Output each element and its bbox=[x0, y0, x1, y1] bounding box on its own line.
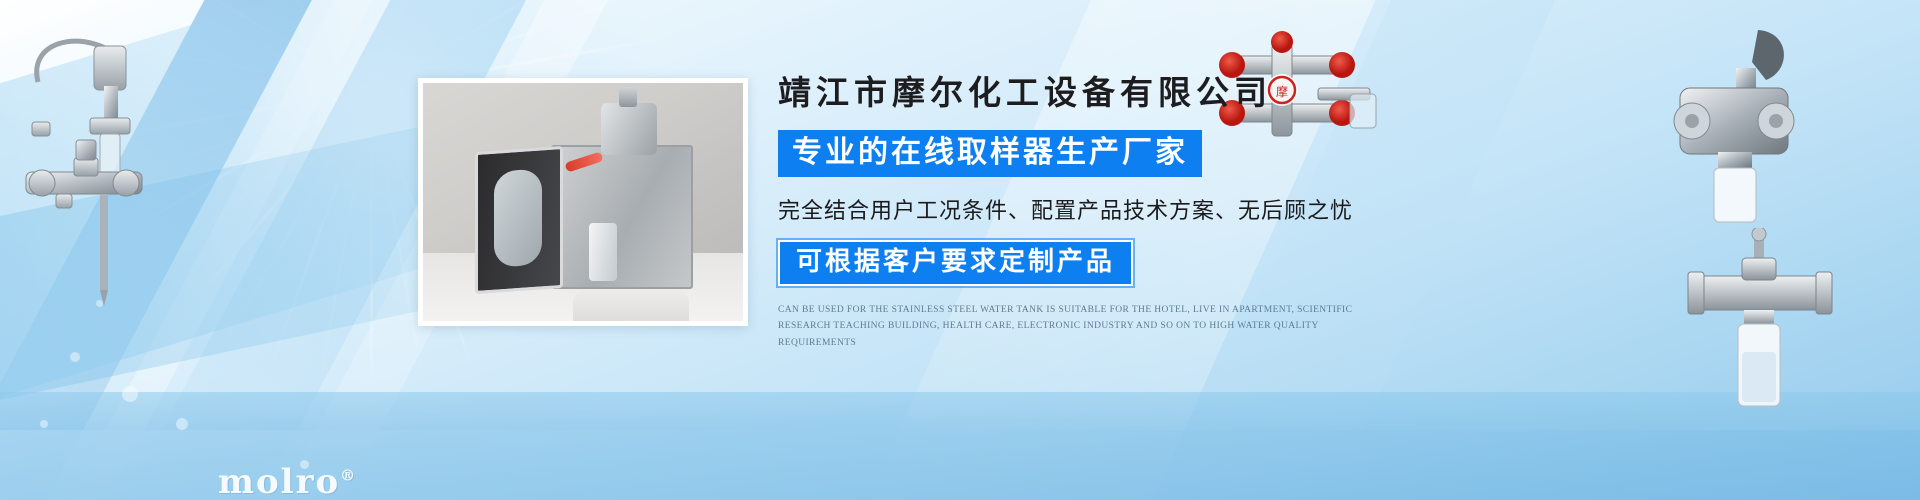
watermark-registered-mark: ® bbox=[340, 467, 357, 485]
bubble-icon bbox=[176, 418, 188, 430]
promo-banner: 摩 bbox=[0, 0, 1920, 500]
inline-sampler-icon bbox=[1680, 228, 1840, 418]
sampling-valve-assembly-icon bbox=[8, 22, 178, 312]
lever-valve-icon bbox=[1640, 22, 1820, 232]
sampler-cabinet-photo bbox=[418, 78, 748, 326]
sunburst-ray bbox=[318, 90, 373, 386]
photo-cabinet-door bbox=[475, 146, 563, 294]
watermark-text: molro bbox=[218, 462, 340, 500]
banner-text-block: 靖江市摩尔化工设备有限公司 专业的在线取样器生产厂家 完全结合用户工况条件、配置… bbox=[778, 74, 1418, 352]
custom-product-tag: 可根据客户要求定制产品 bbox=[778, 240, 1133, 285]
sunburst-ray bbox=[267, 0, 372, 91]
headline-tag: 专业的在线取样器生产厂家 bbox=[778, 130, 1202, 178]
sunburst-ray bbox=[178, 89, 373, 321]
watermark-logo: molro® bbox=[218, 462, 357, 500]
bubble-icon bbox=[40, 420, 48, 428]
english-blurb: CAN BE USED FOR THE STAINLESS STEEL WATE… bbox=[778, 302, 1378, 352]
sunburst-ray bbox=[370, 0, 425, 90]
bubble-icon bbox=[70, 352, 80, 362]
photo-valve-head bbox=[601, 103, 657, 155]
sunburst-ray bbox=[267, 89, 372, 372]
sunburst-ray bbox=[370, 90, 373, 390]
sunburst-ray bbox=[220, 89, 373, 350]
subline-text: 完全结合用户工况条件、配置产品技术方案、无后顾之忧 bbox=[778, 193, 1418, 225]
company-name: 靖江市摩尔化工设备有限公司 bbox=[778, 74, 1418, 113]
photo-background bbox=[423, 83, 743, 321]
sunburst-ray bbox=[178, 0, 373, 91]
sunburst-ray bbox=[370, 90, 425, 386]
sunburst-ray bbox=[370, 0, 475, 91]
photo-door-window bbox=[494, 168, 542, 267]
photo-sample-bottle bbox=[589, 223, 617, 281]
sunburst-ray bbox=[220, 0, 373, 91]
sunburst-ray bbox=[370, 0, 373, 90]
bubble-icon bbox=[122, 386, 138, 402]
sunburst-ray bbox=[318, 0, 373, 90]
